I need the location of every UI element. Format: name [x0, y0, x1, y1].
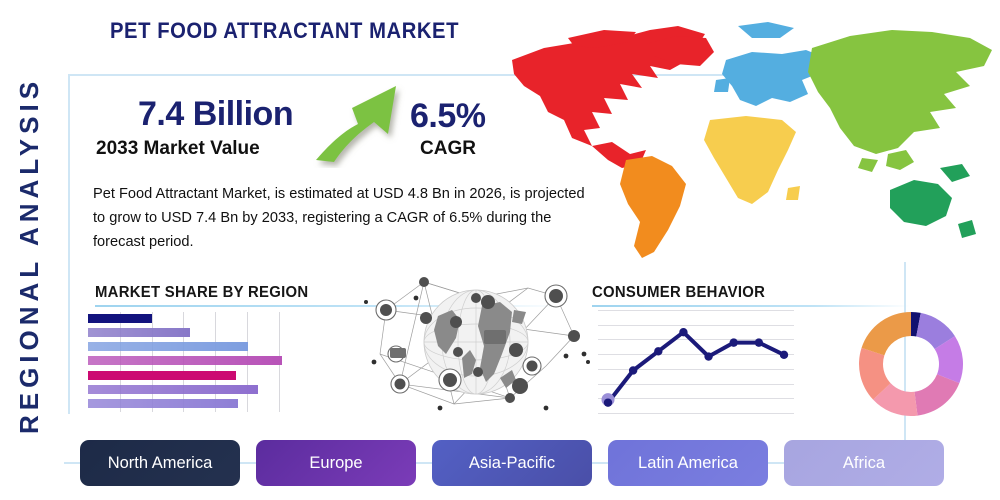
bar-chart-bars: [88, 312, 288, 412]
bar-chart-bar: [88, 328, 190, 337]
line-chart-marker: [654, 347, 662, 355]
bar-chart-row: [88, 356, 288, 365]
bar-chart-bar: [88, 342, 248, 351]
region-button-label: Asia-Pacific: [469, 454, 555, 473]
bar-chart-row: [88, 342, 288, 351]
consumer-behavior-line-chart: [598, 310, 794, 413]
region-buttons-bar: North AmericaEuropeAsia-PacificLatin Ame…: [80, 440, 944, 486]
line-chart-marker: [704, 352, 712, 360]
bar-chart-bar: [88, 385, 258, 394]
region-connector: [768, 462, 784, 464]
bar-chart-row: [88, 371, 288, 380]
bar-chart-bar: [88, 314, 152, 323]
line-chart-gridline: [598, 413, 794, 414]
market-share-heading: MARKET SHARE BY REGION: [95, 284, 308, 302]
region-button-label: Europe: [309, 454, 362, 473]
market-value-stat: 7.4 Billion: [138, 95, 293, 134]
bar-chart-row: [88, 314, 288, 323]
line-chart-marker: [780, 351, 788, 359]
bar-chart-row: [88, 328, 288, 337]
region-button-asia-pacific[interactable]: Asia-Pacific: [432, 440, 592, 486]
consumer-behavior-heading-rule: [592, 305, 910, 307]
line-chart-marker: [604, 398, 612, 406]
donut-segment: [915, 374, 960, 415]
side-label-text: REGIONAL ANALYSIS: [15, 76, 46, 433]
region-button-europe[interactable]: Europe: [256, 440, 416, 486]
donut-segment: [862, 312, 911, 355]
region-connector: [416, 462, 432, 464]
line-chart-marker: [629, 366, 637, 374]
global-network-globe-icon: [360, 262, 592, 422]
market-share-bar-chart: [88, 312, 288, 412]
region-connector: [240, 462, 256, 464]
line-chart-marker: [755, 338, 763, 346]
bar-chart-bar: [88, 356, 282, 365]
consumer-donut-chart: [855, 308, 967, 420]
regional-analysis-side-label: REGIONAL ANALYSIS: [0, 60, 60, 450]
region-connector: [592, 462, 608, 464]
cagr-label: CAGR: [420, 138, 476, 160]
region-button-africa[interactable]: Africa: [784, 440, 944, 486]
region-button-latin-america[interactable]: Latin America: [608, 440, 768, 486]
region-button-label: Africa: [843, 454, 885, 473]
growth-arrow-up-icon: [312, 82, 408, 168]
bar-chart-row: [88, 385, 288, 394]
bar-chart-row: [88, 399, 288, 408]
region-button-label: North America: [108, 454, 213, 473]
region-button-north-america[interactable]: North America: [80, 440, 240, 486]
bar-chart-bar: [88, 371, 236, 380]
world-map-icon: [500, 8, 998, 273]
consumer-behavior-heading: CONSUMER BEHAVIOR: [592, 284, 765, 302]
market-value-label: 2033 Market Value: [96, 138, 260, 160]
region-button-label: Latin America: [638, 454, 738, 473]
infographic-root: REGIONAL ANALYSIS PET FOOD ATTRACTANT MA…: [0, 0, 1000, 500]
bar-chart-bar: [88, 399, 238, 408]
line-chart-marker: [679, 328, 687, 336]
line-chart-series: [598, 310, 794, 413]
page-title: PET FOOD ATTRACTANT MARKET: [110, 18, 459, 44]
cagr-stat: 6.5%: [410, 97, 486, 136]
line-chart-marker: [730, 338, 738, 346]
